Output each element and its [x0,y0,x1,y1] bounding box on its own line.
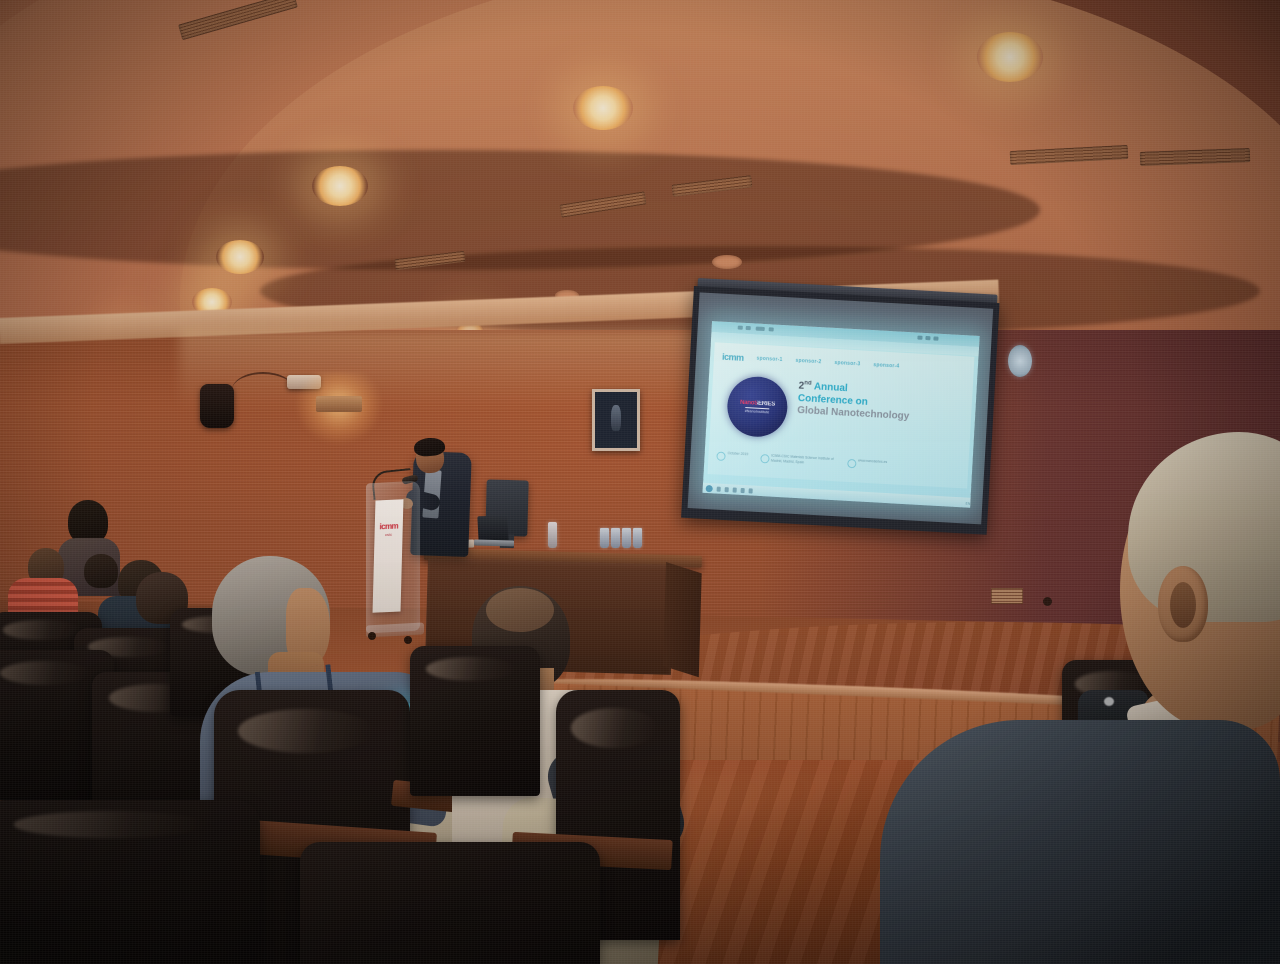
taskbar-icon[interactable] [725,487,729,492]
attendee-head [84,554,118,588]
lectern-logo: icmm [378,521,400,531]
lectern-wheel [368,632,376,640]
slide: icmm sponsor-1 sponsor-2 sponsor-3 spons… [708,342,975,488]
ceiling-downlight [977,32,1043,82]
wall-speaker [200,384,234,428]
headline-annual: Annual [814,381,848,394]
framed-picture-art [611,405,621,431]
footer-date-text: October 2019 [728,451,749,457]
projected-image: icmm sponsor-1 sponsor-2 sponsor-3 spons… [702,321,979,508]
lectern-wheel [404,636,412,644]
ceiling-downlight [216,240,264,274]
sponsor-logo-2: sponsor-2 [795,358,821,365]
headline-ordinal: nd [804,380,812,386]
wall-clock-icon [1008,345,1032,377]
browser-tab[interactable] [738,326,743,330]
framed-picture [592,389,640,451]
laptop-keyboard [474,539,514,546]
drinking-glass [600,528,609,548]
drinking-glass [611,528,620,548]
device-highlight [1104,697,1114,706]
drinking-glass [633,528,642,548]
projection-screen[interactable]: icmm sponsor-1 sponsor-2 sponsor-3 spons… [681,286,999,535]
ceiling-downlight [312,166,368,206]
footer-date: October 2019 [716,451,748,462]
window-minimize-icon[interactable] [917,336,922,340]
badge-subtitle: #NanoInstitute [745,407,770,414]
window-close-icon[interactable] [933,336,938,340]
window-maximize-icon[interactable] [925,336,930,340]
sponsor-logo-4: sponsor-4 [873,362,899,369]
water-bottle [548,522,557,548]
slide-footer: October 2019 ICMM-CSIC Materials Science… [716,451,965,485]
auditorium-seat[interactable] [410,646,540,796]
auditorium-seat[interactable] [0,800,260,964]
browser-tab[interactable] [756,327,765,331]
nanoseries-badge: NanoSERIES #NanoInstitute [726,375,789,438]
auditorium-seat[interactable] [300,842,600,964]
wall-sconce [316,396,362,412]
taskbar-icon[interactable] [741,487,745,492]
drinking-glass [622,528,631,548]
head-table-side [663,562,702,677]
lectern-banner: icmm csic [373,499,404,612]
ceiling-downlight [573,86,633,130]
auditorium-photo: icmm sponsor-1 sponsor-2 sponsor-3 spons… [0,0,1280,964]
screen-surface: icmm sponsor-1 sponsor-2 sponsor-3 spons… [688,292,994,524]
footer-website-text: www.nanoseries.es [858,458,887,464]
location-pin-icon [760,453,769,462]
sponsor-logo-1: sponsor-1 [756,356,782,363]
footer-location-text: ICMM-CSIC Materials Science Institute of… [771,454,835,467]
taskbar-icon[interactable] [733,487,737,492]
start-button-icon[interactable] [706,484,713,491]
ceiling-speaker-grille [712,255,742,269]
taskbar-icon[interactable] [749,488,753,493]
attendee-scalp [486,588,554,632]
wall-vent [991,588,1023,604]
slide-headline: 2nd Annual Conference on Global Nanotech… [797,380,967,426]
drinking-glasses [600,524,642,548]
lectern-logo-sub: csic [377,531,401,537]
sponsor-logo-3: sponsor-3 [834,360,860,367]
icmm-logo: icmm [722,352,744,363]
browser-tab[interactable] [746,326,751,330]
footer-website: www.nanoseries.es [847,458,888,470]
browser-tab[interactable] [769,327,774,331]
calendar-icon [716,451,725,460]
wall-outlet [1043,597,1052,606]
foreground-attendee-body [880,720,1280,964]
laptop-screen [477,516,508,542]
system-tray[interactable]: EN [965,502,970,506]
taskbar-icon[interactable] [717,486,721,491]
footer-location: ICMM-CSIC Materials Science Institute of… [760,453,835,467]
globe-icon [847,458,856,467]
foreground-attendee-ear-inner [1170,582,1196,628]
